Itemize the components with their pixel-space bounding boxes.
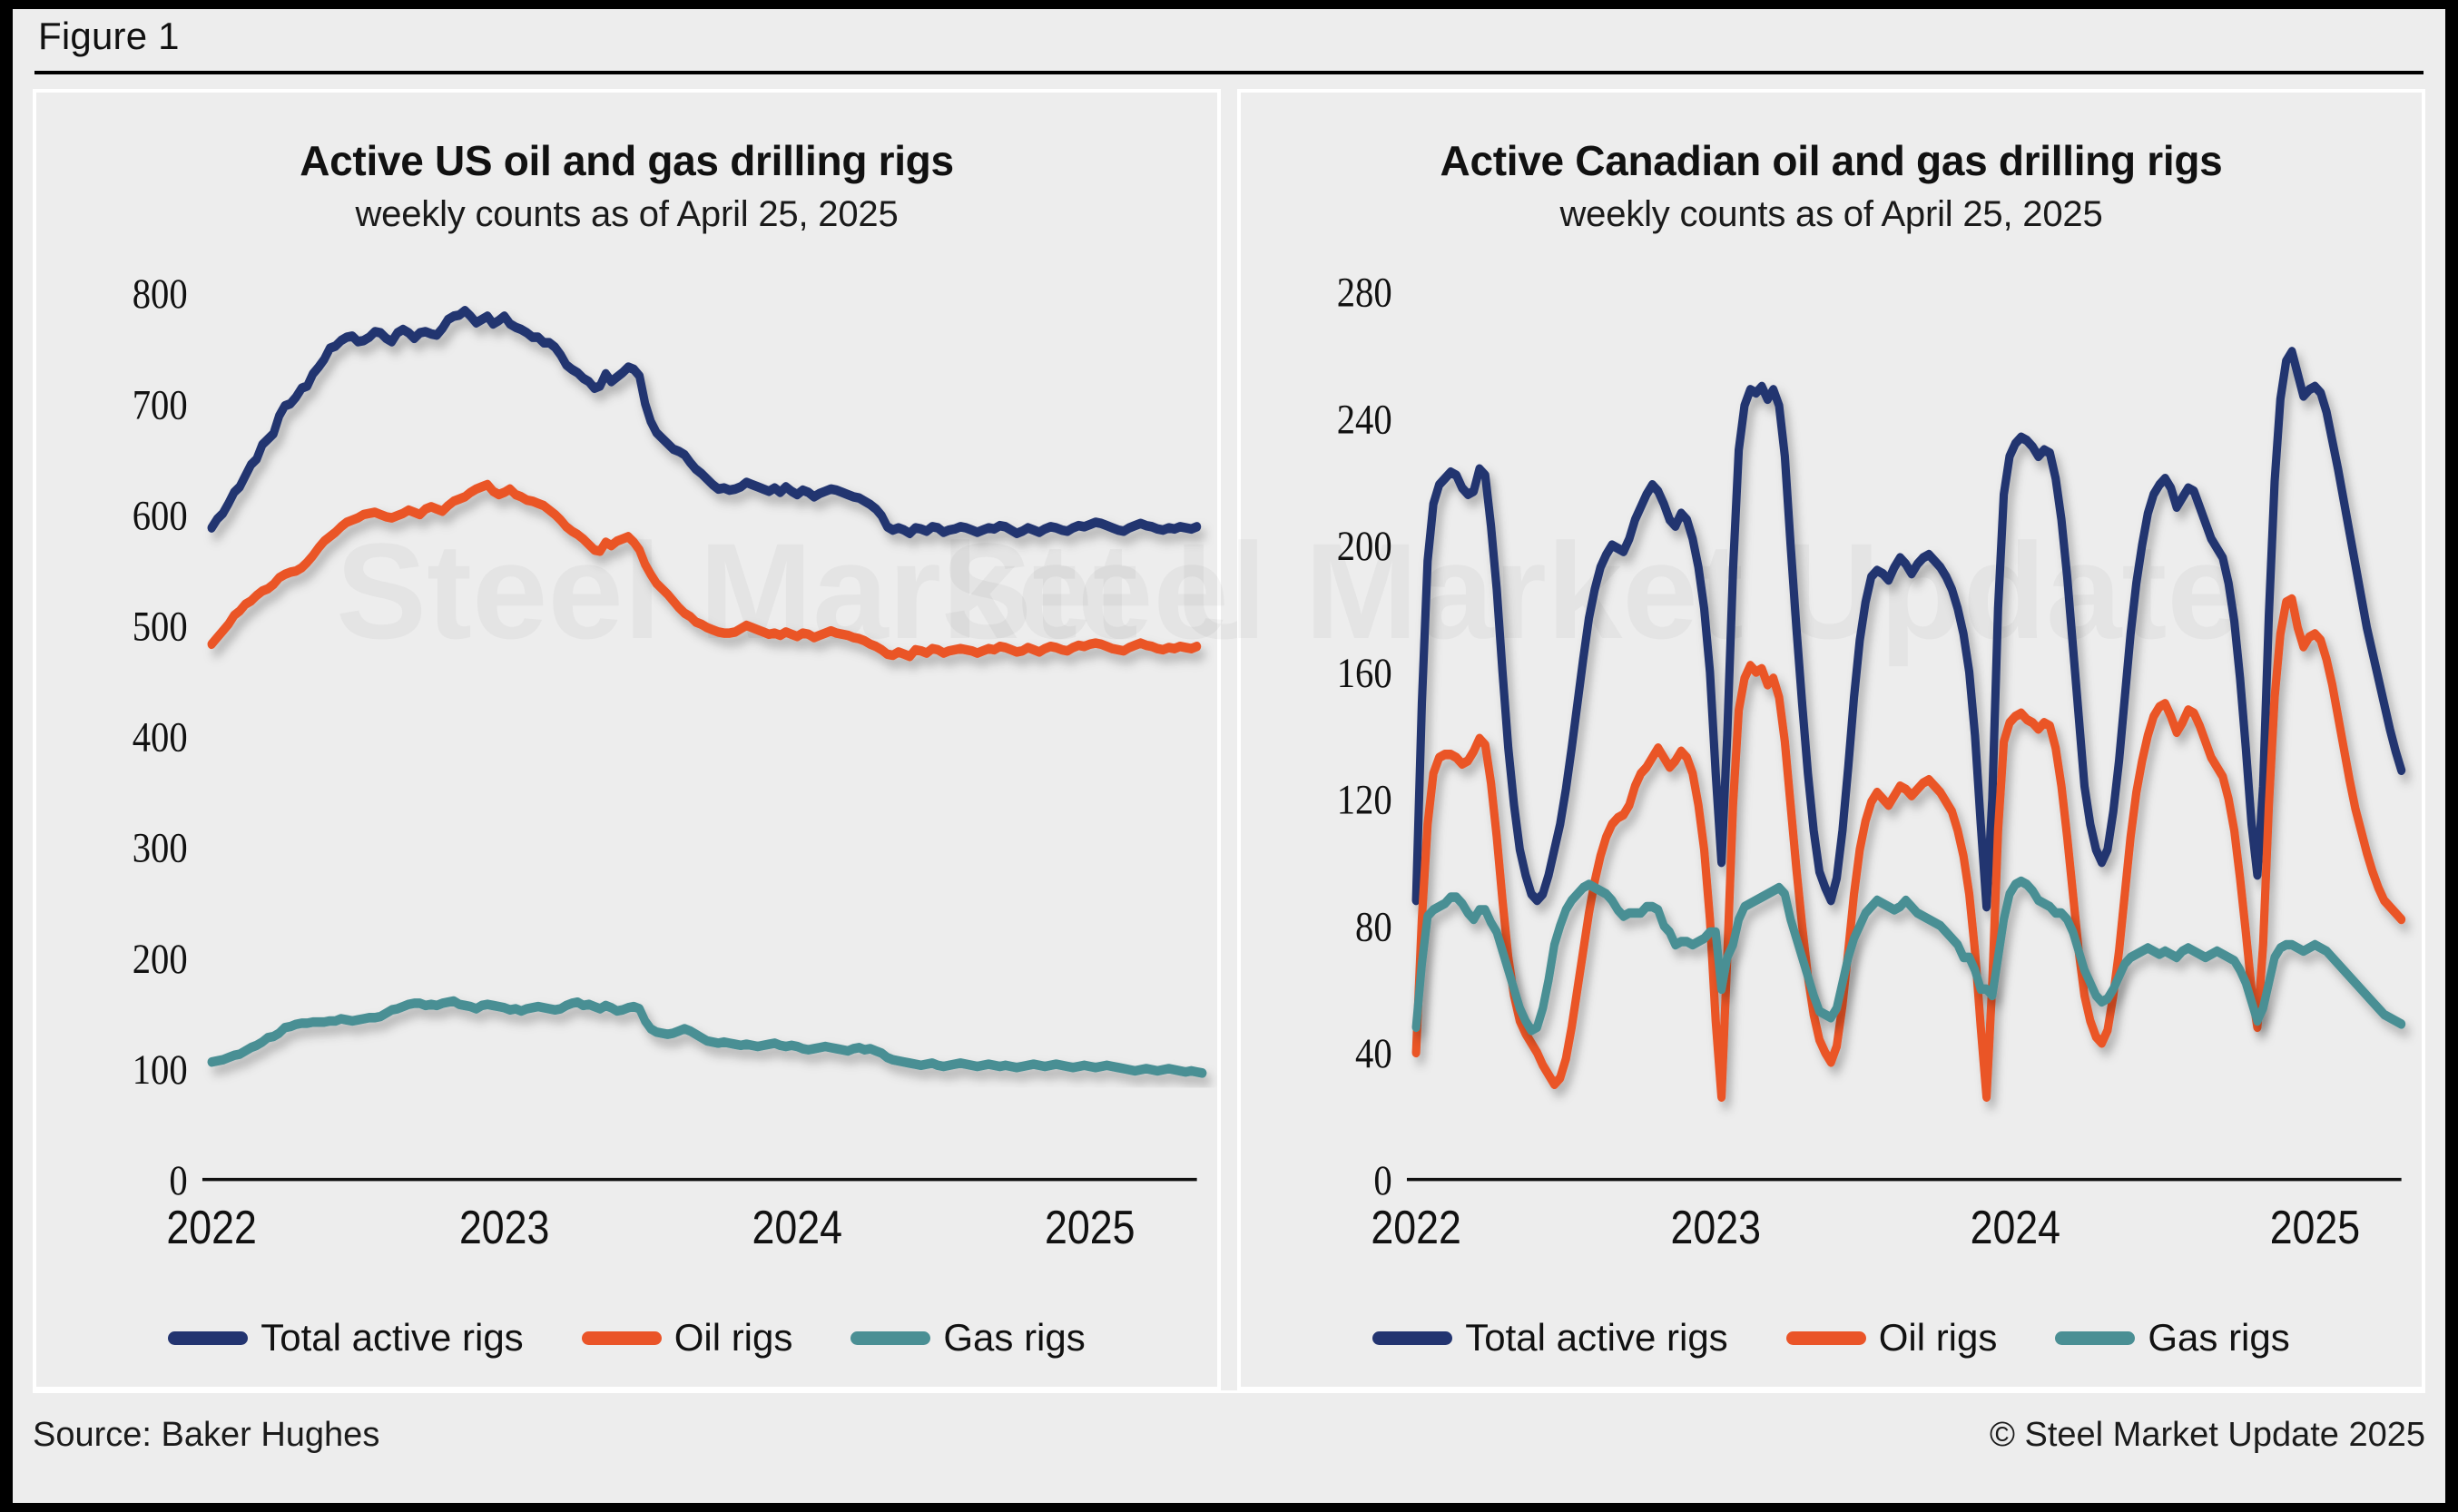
- y-axis-tick-label: 600: [133, 493, 188, 539]
- legend-canada: Total active rigs Oil rigs Gas rigs: [1241, 1305, 2422, 1387]
- legend-label-total-us: Total active rigs: [261, 1316, 523, 1360]
- panel-us-subtitle: weekly counts as of April 25, 2025: [36, 194, 1217, 235]
- series-line-total-active-rigs: [211, 310, 1197, 533]
- legend-item-gas-us[interactable]: Gas rigs: [850, 1316, 1085, 1360]
- y-axis-tick-label: 700: [133, 382, 188, 428]
- panel-us-chart: Active US oil and gas drilling rigs week…: [33, 89, 1221, 1390]
- y-axis-tick-label: 200: [1337, 523, 1392, 569]
- legend-item-oil-canada[interactable]: Oil rigs: [1786, 1316, 1998, 1360]
- legend-item-total-us[interactable]: Total active rigs: [168, 1316, 523, 1360]
- legend-swatch-gas-us: [850, 1331, 930, 1345]
- x-axis-tick-label: 2023: [1670, 1202, 1760, 1254]
- figure-frame: Figure 1 Active US oil and gas drilling …: [13, 9, 2445, 1503]
- series-line-gas-rigs: [1416, 881, 2402, 1030]
- legend-label-gas-us: Gas rigs: [943, 1316, 1085, 1360]
- legend-item-total-canada[interactable]: Total active rigs: [1372, 1316, 1727, 1360]
- legend-item-oil-us[interactable]: Oil rigs: [582, 1316, 793, 1360]
- series-line-oil-rigs: [211, 485, 1197, 656]
- y-axis-tick-label: 0: [169, 1157, 187, 1203]
- plot-area-canada: Steel Market Update 04080120160200240280…: [1241, 241, 2422, 1305]
- y-axis-tick-label: 40: [1355, 1031, 1392, 1077]
- x-axis-tick-label: 2024: [752, 1202, 842, 1254]
- x-axis-tick-label: 2022: [166, 1202, 256, 1254]
- legend-item-gas-canada[interactable]: Gas rigs: [2055, 1316, 2289, 1360]
- copyright-label: © Steel Market Update 2025: [1990, 1416, 2425, 1455]
- chart-svg-canada: 040801201602002402802022202320242025: [1241, 241, 2422, 1305]
- panel-canada-chart: Active Canadian oil and gas drilling rig…: [1237, 89, 2425, 1390]
- y-axis-tick-label: 800: [133, 271, 188, 318]
- x-axis-tick-label: 2023: [459, 1202, 549, 1254]
- y-axis-tick-label: 160: [1337, 650, 1392, 696]
- legend-label-oil-canada: Oil rigs: [1879, 1316, 1998, 1360]
- legend-swatch-oil-us: [582, 1331, 662, 1345]
- y-axis-tick-label: 100: [133, 1046, 188, 1093]
- y-axis-tick-label: 300: [133, 825, 188, 871]
- series-line-total-active-rigs: [1416, 351, 2402, 907]
- figure-label: Figure 1: [38, 15, 180, 57]
- y-axis-tick-label: 0: [1373, 1157, 1391, 1203]
- y-axis-tick-label: 240: [1337, 397, 1392, 443]
- panel-canada-title: Active Canadian oil and gas drilling rig…: [1241, 136, 2422, 185]
- series-line-gas-rigs: [211, 1001, 1203, 1073]
- y-axis-tick-label: 280: [1337, 270, 1392, 316]
- figure-footer: Source: Baker Hughes © Steel Market Upda…: [33, 1390, 2425, 1477]
- y-axis-tick-label: 80: [1355, 904, 1392, 950]
- legend-swatch-total-canada: [1372, 1331, 1452, 1345]
- x-axis-tick-label: 2022: [1371, 1202, 1460, 1254]
- y-axis-tick-label: 500: [133, 604, 188, 650]
- legend-swatch-oil-canada: [1786, 1331, 1866, 1345]
- legend-label-oil-us: Oil rigs: [674, 1316, 793, 1360]
- panel-us-titles: Active US oil and gas drilling rigs week…: [36, 93, 1217, 235]
- chart-panels: Active US oil and gas drilling rigs week…: [13, 74, 2445, 1390]
- chart-svg-us: 0100200300400500600700800202220232024202…: [36, 241, 1217, 1305]
- y-axis-tick-label: 120: [1337, 777, 1392, 823]
- y-axis-tick-label: 200: [133, 936, 188, 982]
- y-axis-tick-label: 400: [133, 714, 188, 761]
- legend-swatch-total-us: [168, 1331, 248, 1345]
- plot-area-us: Steel Market Update 01002003004005006007…: [36, 241, 1217, 1305]
- figure-header: Figure 1: [13, 9, 2445, 65]
- x-axis-tick-label: 2024: [1971, 1202, 2060, 1254]
- source-label: Source: Baker Hughes: [33, 1416, 379, 1455]
- panel-canada-titles: Active Canadian oil and gas drilling rig…: [1241, 93, 2422, 235]
- legend-label-total-canada: Total active rigs: [1465, 1316, 1727, 1360]
- panel-canada-subtitle: weekly counts as of April 25, 2025: [1241, 194, 2422, 235]
- legend-us: Total active rigs Oil rigs Gas rigs: [36, 1305, 1217, 1387]
- x-axis-tick-label: 2025: [1045, 1202, 1135, 1254]
- legend-swatch-gas-canada: [2055, 1331, 2135, 1345]
- x-axis-tick-label: 2025: [2270, 1202, 2360, 1254]
- panel-us-title: Active US oil and gas drilling rigs: [36, 136, 1217, 185]
- legend-label-gas-canada: Gas rigs: [2148, 1316, 2289, 1360]
